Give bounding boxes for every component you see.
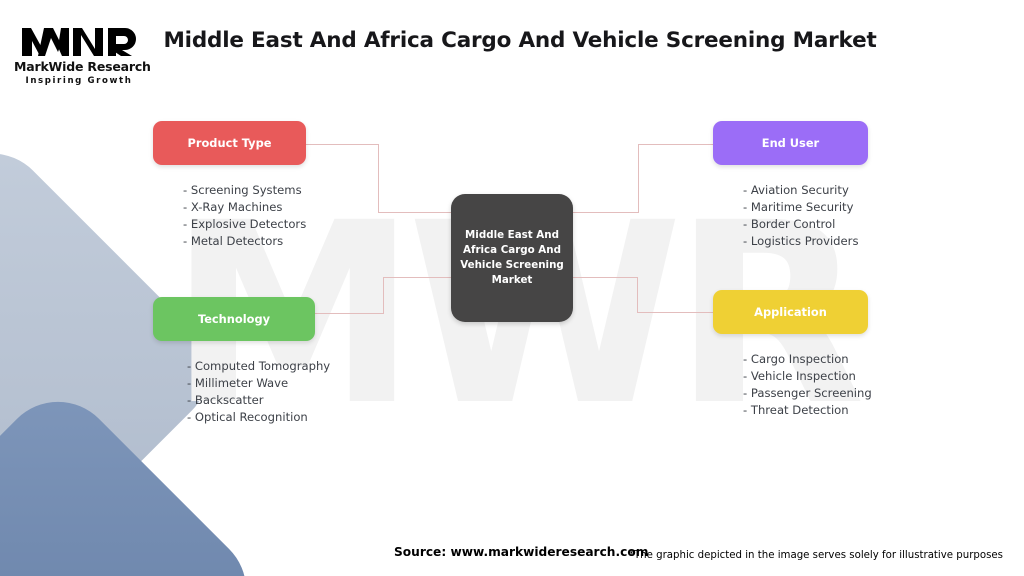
connector-product-type-h2: [378, 212, 454, 213]
connector-end-user-h2: [638, 144, 714, 145]
category-header-end-user[interactable]: End User: [713, 121, 868, 165]
category-application: Application - Cargo Inspection - Vehicle…: [713, 290, 868, 420]
list-item: - Threat Detection: [743, 402, 868, 419]
list-item: - Border Control: [743, 216, 868, 233]
category-header-application[interactable]: Application: [713, 290, 868, 334]
center-node: Middle East And Africa Cargo And Vehicle…: [451, 194, 573, 322]
page-title: Middle East And Africa Cargo And Vehicle…: [160, 28, 880, 53]
connector-product-type-h1: [306, 144, 379, 145]
connector-application-h2: [637, 312, 714, 313]
list-item: - Metal Detectors: [183, 233, 306, 250]
logo-company-name: MarkWide Research: [14, 59, 144, 74]
list-item: - Cargo Inspection: [743, 351, 868, 368]
category-product-type: Product Type - Screening Systems - X-Ray…: [153, 121, 306, 251]
category-header-product-type[interactable]: Product Type: [153, 121, 306, 165]
list-item: - Optical Recognition: [187, 409, 315, 426]
list-item: - Passenger Screening: [743, 385, 868, 402]
category-end-user: End User - Aviation Security - Maritime …: [713, 121, 868, 251]
list-item: - Computed Tomography: [187, 358, 315, 375]
list-item: - Aviation Security: [743, 182, 868, 199]
connector-technology-v: [383, 277, 384, 314]
category-list-technology: - Computed Tomography - Millimeter Wave …: [153, 358, 315, 427]
category-list-product-type: - Screening Systems - X-Ray Machines - E…: [153, 182, 306, 251]
connector-application-h1: [570, 277, 638, 278]
mwr-logo-icon: [20, 22, 138, 58]
category-list-end-user: - Aviation Security - Maritime Security …: [713, 182, 868, 251]
list-item: - Explosive Detectors: [183, 216, 306, 233]
connector-technology-h2: [383, 277, 455, 278]
footer-disclaimer: *The graphic depicted in the image serve…: [629, 550, 1003, 561]
list-item: - Screening Systems: [183, 182, 306, 199]
footer-source[interactable]: Source: www.markwideresearch.com: [394, 545, 648, 559]
category-list-application: - Cargo Inspection - Vehicle Inspection …: [713, 351, 868, 420]
list-item: - Vehicle Inspection: [743, 368, 868, 385]
connector-application-v: [637, 277, 638, 313]
brand-logo: MarkWide Research Inspiring Growth: [14, 22, 144, 92]
list-item: - Maritime Security: [743, 199, 868, 216]
list-item: - X-Ray Machines: [183, 199, 306, 216]
slide-canvas: MWR MarkWide Research Inspiring Growth M…: [0, 0, 1024, 576]
connector-end-user-h1: [570, 212, 638, 213]
connector-product-type-v: [378, 144, 379, 213]
list-item: - Backscatter: [187, 392, 315, 409]
logo-tagline: Inspiring Growth: [14, 76, 144, 86]
connector-technology-h1: [314, 313, 384, 314]
connector-end-user-v: [638, 144, 639, 213]
list-item: - Logistics Providers: [743, 233, 868, 250]
category-header-technology[interactable]: Technology: [153, 297, 315, 341]
category-technology: Technology - Computed Tomography - Milli…: [153, 297, 315, 427]
list-item: - Millimeter Wave: [187, 375, 315, 392]
